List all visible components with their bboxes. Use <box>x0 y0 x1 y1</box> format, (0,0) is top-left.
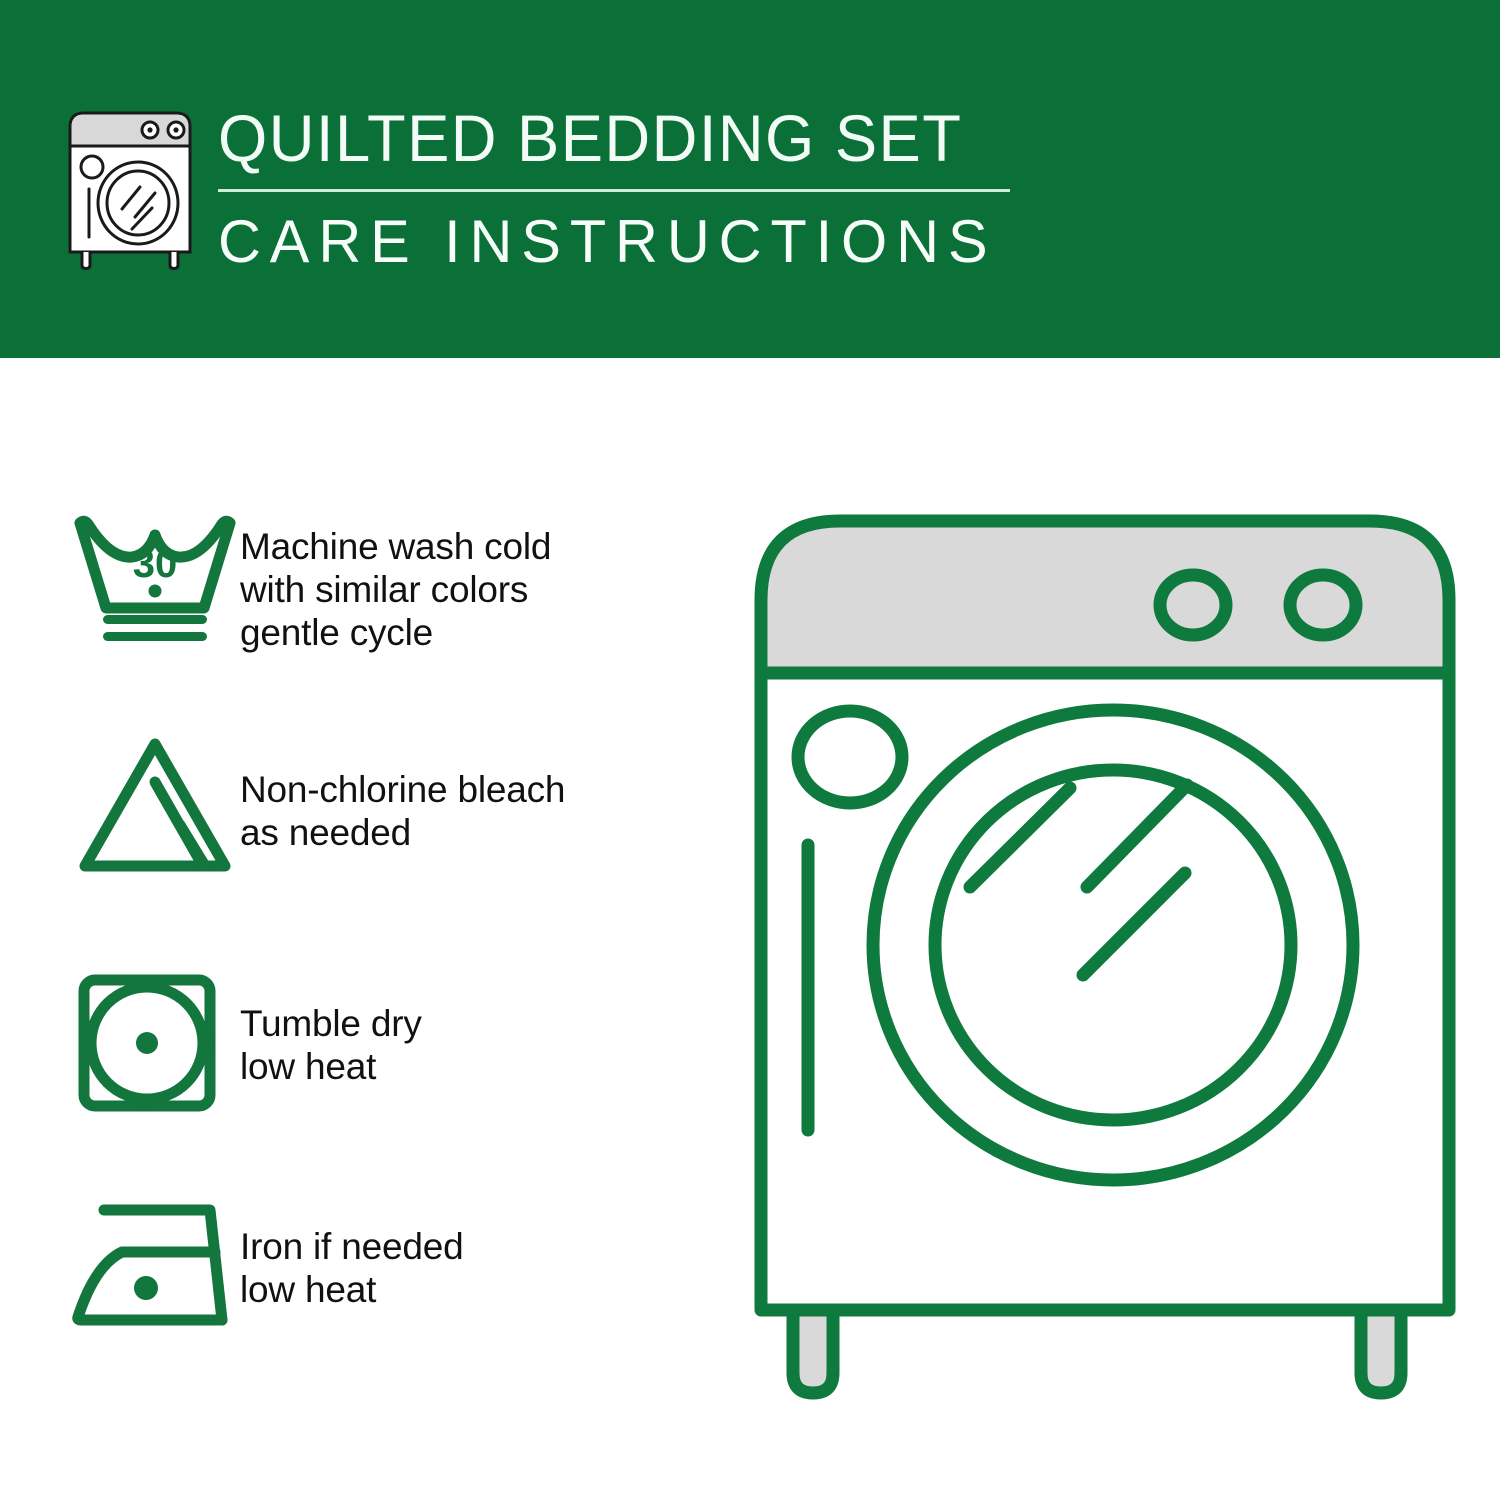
washing-machine-logo-icon <box>62 105 198 270</box>
machine-leg-left <box>793 1310 833 1393</box>
instruction-text-tumble-dry: Tumble dry low heat <box>240 970 422 1088</box>
water-streak-3 <box>1083 873 1185 975</box>
instruction-row-iron: Iron if needed low heat <box>70 1195 730 1335</box>
title-divider <box>218 189 1010 192</box>
header-text-block: QUILTED BEDDING SET CARE INSTRUCTIONS <box>218 100 1018 276</box>
machine-leg-right <box>1361 1310 1401 1393</box>
instruction-row-tumble-dry: Tumble dry low heat <box>70 970 730 1115</box>
iron-icon <box>70 1195 240 1335</box>
water-streak-2 <box>1087 785 1187 887</box>
instruction-row-bleach: Non-chlorine bleach as needed <box>70 730 730 880</box>
bleach-triangle-icon <box>70 730 240 880</box>
instruction-text-machine-wash: Machine wash cold with similar colors ge… <box>240 505 551 654</box>
instruction-text-bleach: Non-chlorine bleach as needed <box>240 730 565 854</box>
detergent-indicator-circle <box>798 711 902 803</box>
wash-temp-label: 30 <box>133 542 178 586</box>
instruction-row-machine-wash: 30 Machine wash cold with similar colors… <box>70 505 730 654</box>
tumble-dry-icon <box>70 970 240 1115</box>
instruction-text-iron: Iron if needed low heat <box>240 1195 463 1311</box>
header-banner: QUILTED BEDDING SET CARE INSTRUCTIONS <box>0 0 1500 358</box>
page-subtitle: CARE INSTRUCTIONS <box>218 208 1010 276</box>
page-title: QUILTED BEDDING SET <box>218 100 986 176</box>
wash-tub-30-icon: 30 <box>70 505 240 650</box>
washing-machine-illustration <box>745 495 1465 1415</box>
control-panel-fill <box>761 521 1449 673</box>
